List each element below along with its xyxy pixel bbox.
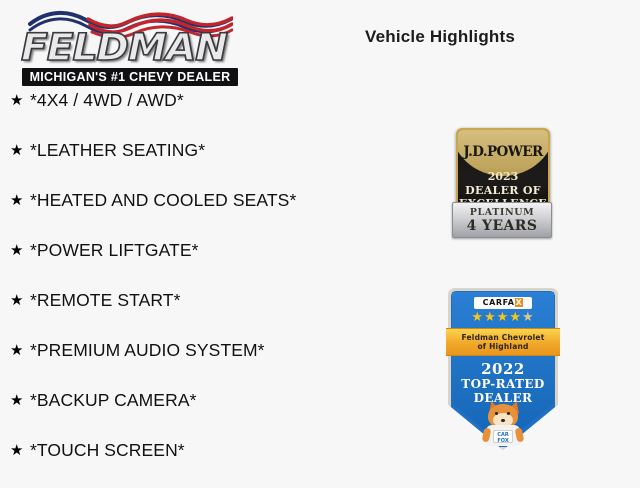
feldman-dealer-logo: FELDMAN MICHIGAN'S #1 CHEVY DEALER bbox=[10, 6, 238, 86]
jd-power-silver-ribbon: PLATINUM 4 YEARS bbox=[452, 202, 552, 238]
star-filled-icons: ★★★★ bbox=[471, 310, 522, 325]
star-bullet-icon: ★ bbox=[10, 293, 30, 308]
jd-power-brand: J.D.POWER bbox=[458, 144, 548, 160]
star-bullet-icon: ★ bbox=[10, 443, 30, 458]
jd-power-award-badge: J.D.POWER 2023 DEALER OF EXCELLENCE PLAT… bbox=[452, 128, 550, 240]
carfax-award-title-line2: DEALER bbox=[448, 391, 558, 405]
star-bullet-icon: ★ bbox=[10, 193, 30, 208]
jd-power-tier: PLATINUM bbox=[453, 207, 551, 218]
highlight-label: *HEATED AND COOLED SEATS* bbox=[30, 190, 296, 211]
carfax-award-title-line1: TOP-RATED bbox=[448, 377, 558, 391]
fox-shirt-line2: FOX bbox=[497, 438, 508, 444]
list-item: ★ *BACKUP CAMERA* bbox=[0, 388, 430, 412]
car-fox-mascot-icon: CARFOX bbox=[484, 404, 522, 446]
list-item: ★ *4X4 / 4WD / AWD* bbox=[0, 88, 430, 112]
list-item: ★ *POWER LIFTGATE* bbox=[0, 238, 430, 262]
carfax-dealer-ribbon: Feldman Chevrolet of Highland bbox=[446, 328, 560, 356]
vehicle-highlights-page: FELDMAN MICHIGAN'S #1 CHEVY DEALER Vehic… bbox=[0, 0, 640, 480]
page-header: FELDMAN MICHIGAN'S #1 CHEVY DEALER Vehic… bbox=[0, 0, 640, 90]
list-item: ★ *LEATHER SEATING* bbox=[0, 138, 430, 162]
jd-power-award-line1: DEALER OF bbox=[458, 184, 548, 197]
carfax-logo-text: CARFA bbox=[483, 298, 515, 307]
star-last-icon: ★ bbox=[522, 310, 535, 325]
highlight-label: *TOUCH SCREEN* bbox=[30, 440, 185, 461]
highlight-label: *POWER LIFTGATE* bbox=[30, 240, 199, 261]
carfax-logo-x: X bbox=[515, 298, 524, 307]
highlight-label: *LEATHER SEATING* bbox=[30, 140, 205, 161]
jd-power-year: 2023 bbox=[458, 170, 548, 183]
dealer-tagline: MICHIGAN'S #1 CHEVY DEALER bbox=[22, 68, 238, 86]
vehicle-highlights-list: ★ *4X4 / 4WD / AWD* ★ *LEATHER SEATING* … bbox=[0, 88, 430, 488]
list-item: ★ *TOUCH SCREEN* bbox=[0, 438, 430, 462]
fox-eye-left bbox=[495, 412, 498, 415]
star-bullet-icon: ★ bbox=[10, 393, 30, 408]
star-bullet-icon: ★ bbox=[10, 343, 30, 358]
highlight-label: *REMOTE START* bbox=[30, 290, 181, 311]
star-bullet-icon: ★ bbox=[10, 143, 30, 158]
highlight-label: *PREMIUM AUDIO SYSTEM* bbox=[30, 340, 265, 361]
fox-eye-right bbox=[507, 412, 510, 415]
carfax-dealer-name-line2: of Highland bbox=[446, 342, 560, 351]
highlight-label: *BACKUP CAMERA* bbox=[30, 390, 197, 411]
carfax-award-year: 2022 bbox=[448, 360, 558, 378]
highlight-label: *4X4 / 4WD / AWD* bbox=[30, 90, 184, 111]
carfax-logo: CARFAX bbox=[474, 297, 532, 309]
carfax-star-rating: ★★★★★ bbox=[448, 311, 558, 325]
list-item: ★ *HEATED AND COOLED SEATS* bbox=[0, 188, 430, 212]
jd-power-duration: 4 YEARS bbox=[453, 218, 551, 234]
list-item: ★ *REMOTE START* bbox=[0, 288, 430, 312]
page-title: Vehicle Highlights bbox=[300, 27, 580, 47]
fox-shirt: CARFOX bbox=[493, 430, 513, 443]
fox-nose bbox=[501, 419, 505, 422]
feldman-wordmark: FELDMAN bbox=[3, 28, 245, 68]
star-bullet-icon: ★ bbox=[10, 93, 30, 108]
star-bullet-icon: ★ bbox=[10, 243, 30, 258]
list-item: ★ *PREMIUM AUDIO SYSTEM* bbox=[0, 338, 430, 362]
carfax-dealer-name-line1: Feldman Chevrolet bbox=[446, 333, 560, 342]
carfax-top-rated-dealer-badge: CARFAX ★★★★★ Feldman Chevrolet of Highla… bbox=[448, 288, 558, 450]
